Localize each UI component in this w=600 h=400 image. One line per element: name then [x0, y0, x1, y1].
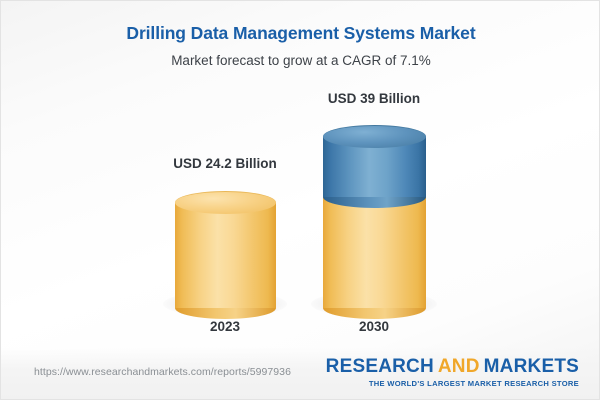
- bar-group-2030: USD 39 Billion 2030: [264, 81, 484, 341]
- research-and-markets-logo[interactable]: RESEARCHANDMARKETS THE WORLD'S LARGEST M…: [326, 357, 579, 388]
- logo-tagline: THE WORLD'S LARGEST MARKET RESEARCH STOR…: [326, 379, 579, 388]
- logo-word-and: AND: [438, 356, 480, 377]
- value-label-2030: USD 39 Billion: [264, 91, 484, 106]
- cylinder-top-face: [175, 191, 276, 214]
- cylinder-top-face: [323, 125, 426, 148]
- page-title: Drilling Data Management Systems Market: [1, 23, 600, 44]
- bar-2030-segment-base[interactable]: [323, 197, 426, 308]
- cylinder-side-face: [175, 202, 276, 308]
- chart-subtitle: Market forecast to grow at a CAGR of 7.1…: [1, 53, 600, 68]
- source-url-link[interactable]: https://www.researchandmarkets.com/repor…: [34, 366, 291, 378]
- logo-wordmark: RESEARCHANDMARKETS: [326, 357, 579, 377]
- logo-word-markets: MARKETS: [484, 356, 579, 377]
- cylinder-side-face: [323, 197, 426, 308]
- bar-2030-segment-growth[interactable]: [323, 125, 426, 197]
- bar-2023-segment-base[interactable]: [175, 191, 276, 308]
- logo-word-research: RESEARCH: [326, 356, 434, 377]
- chart-card: Drilling Data Management Systems Market …: [0, 0, 600, 400]
- chart-plot-area: USD 24.2 Billion 2023 USD 39 Billion: [1, 81, 600, 341]
- footer: https://www.researchandmarkets.com/repor…: [1, 347, 600, 399]
- x-axis-label-2030: 2030: [264, 319, 484, 334]
